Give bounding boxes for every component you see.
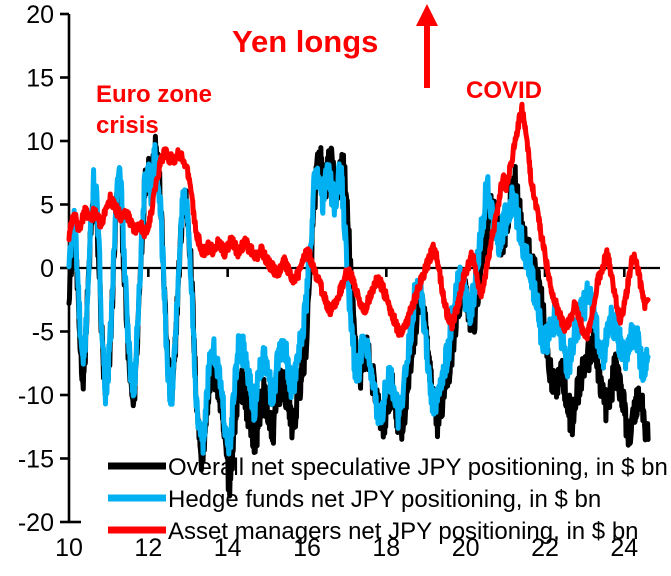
legend-label-1: Hedge funds net JPY positioning, in $ bn bbox=[168, 486, 601, 513]
y-axis-tick-label: -20 bbox=[18, 509, 54, 537]
y-axis-tick-label: -5 bbox=[32, 319, 54, 347]
jpy-positioning-chart: 20151050-5-10-15-20 1012141618202224 Yen… bbox=[0, 0, 671, 576]
y-axis-tick-label: 0 bbox=[40, 255, 54, 283]
legend-label-0: Overall net speculative JPY positioning,… bbox=[168, 454, 668, 481]
y-axis-tick-label: 5 bbox=[40, 192, 54, 220]
y-axis-tick-label: -15 bbox=[18, 446, 54, 474]
y-axis-tick-label: 15 bbox=[26, 65, 54, 93]
y-axis-tick-label: -10 bbox=[18, 382, 54, 410]
chart-root: 20151050-5-10-15-20 1012141618202224 Yen… bbox=[0, 0, 671, 576]
x-axis-tick-label: 10 bbox=[55, 534, 83, 562]
legend-label-2: Asset managers net JPY positioning, in $… bbox=[168, 518, 639, 545]
x-axis-tick-label: 12 bbox=[134, 534, 162, 562]
annotation-covid: COVID bbox=[466, 77, 542, 104]
annotation-euro-zone-crisis-line2: crisis bbox=[96, 112, 159, 139]
chart-legend: Overall net speculative JPY positioning,… bbox=[108, 454, 668, 545]
annotation-yen-longs: Yen longs bbox=[232, 24, 378, 59]
annotation-euro-zone-crisis-line1: Euro zone bbox=[96, 81, 212, 108]
y-axis-tick-label: 10 bbox=[26, 128, 54, 156]
y-axis-tick-label: 20 bbox=[26, 1, 54, 29]
